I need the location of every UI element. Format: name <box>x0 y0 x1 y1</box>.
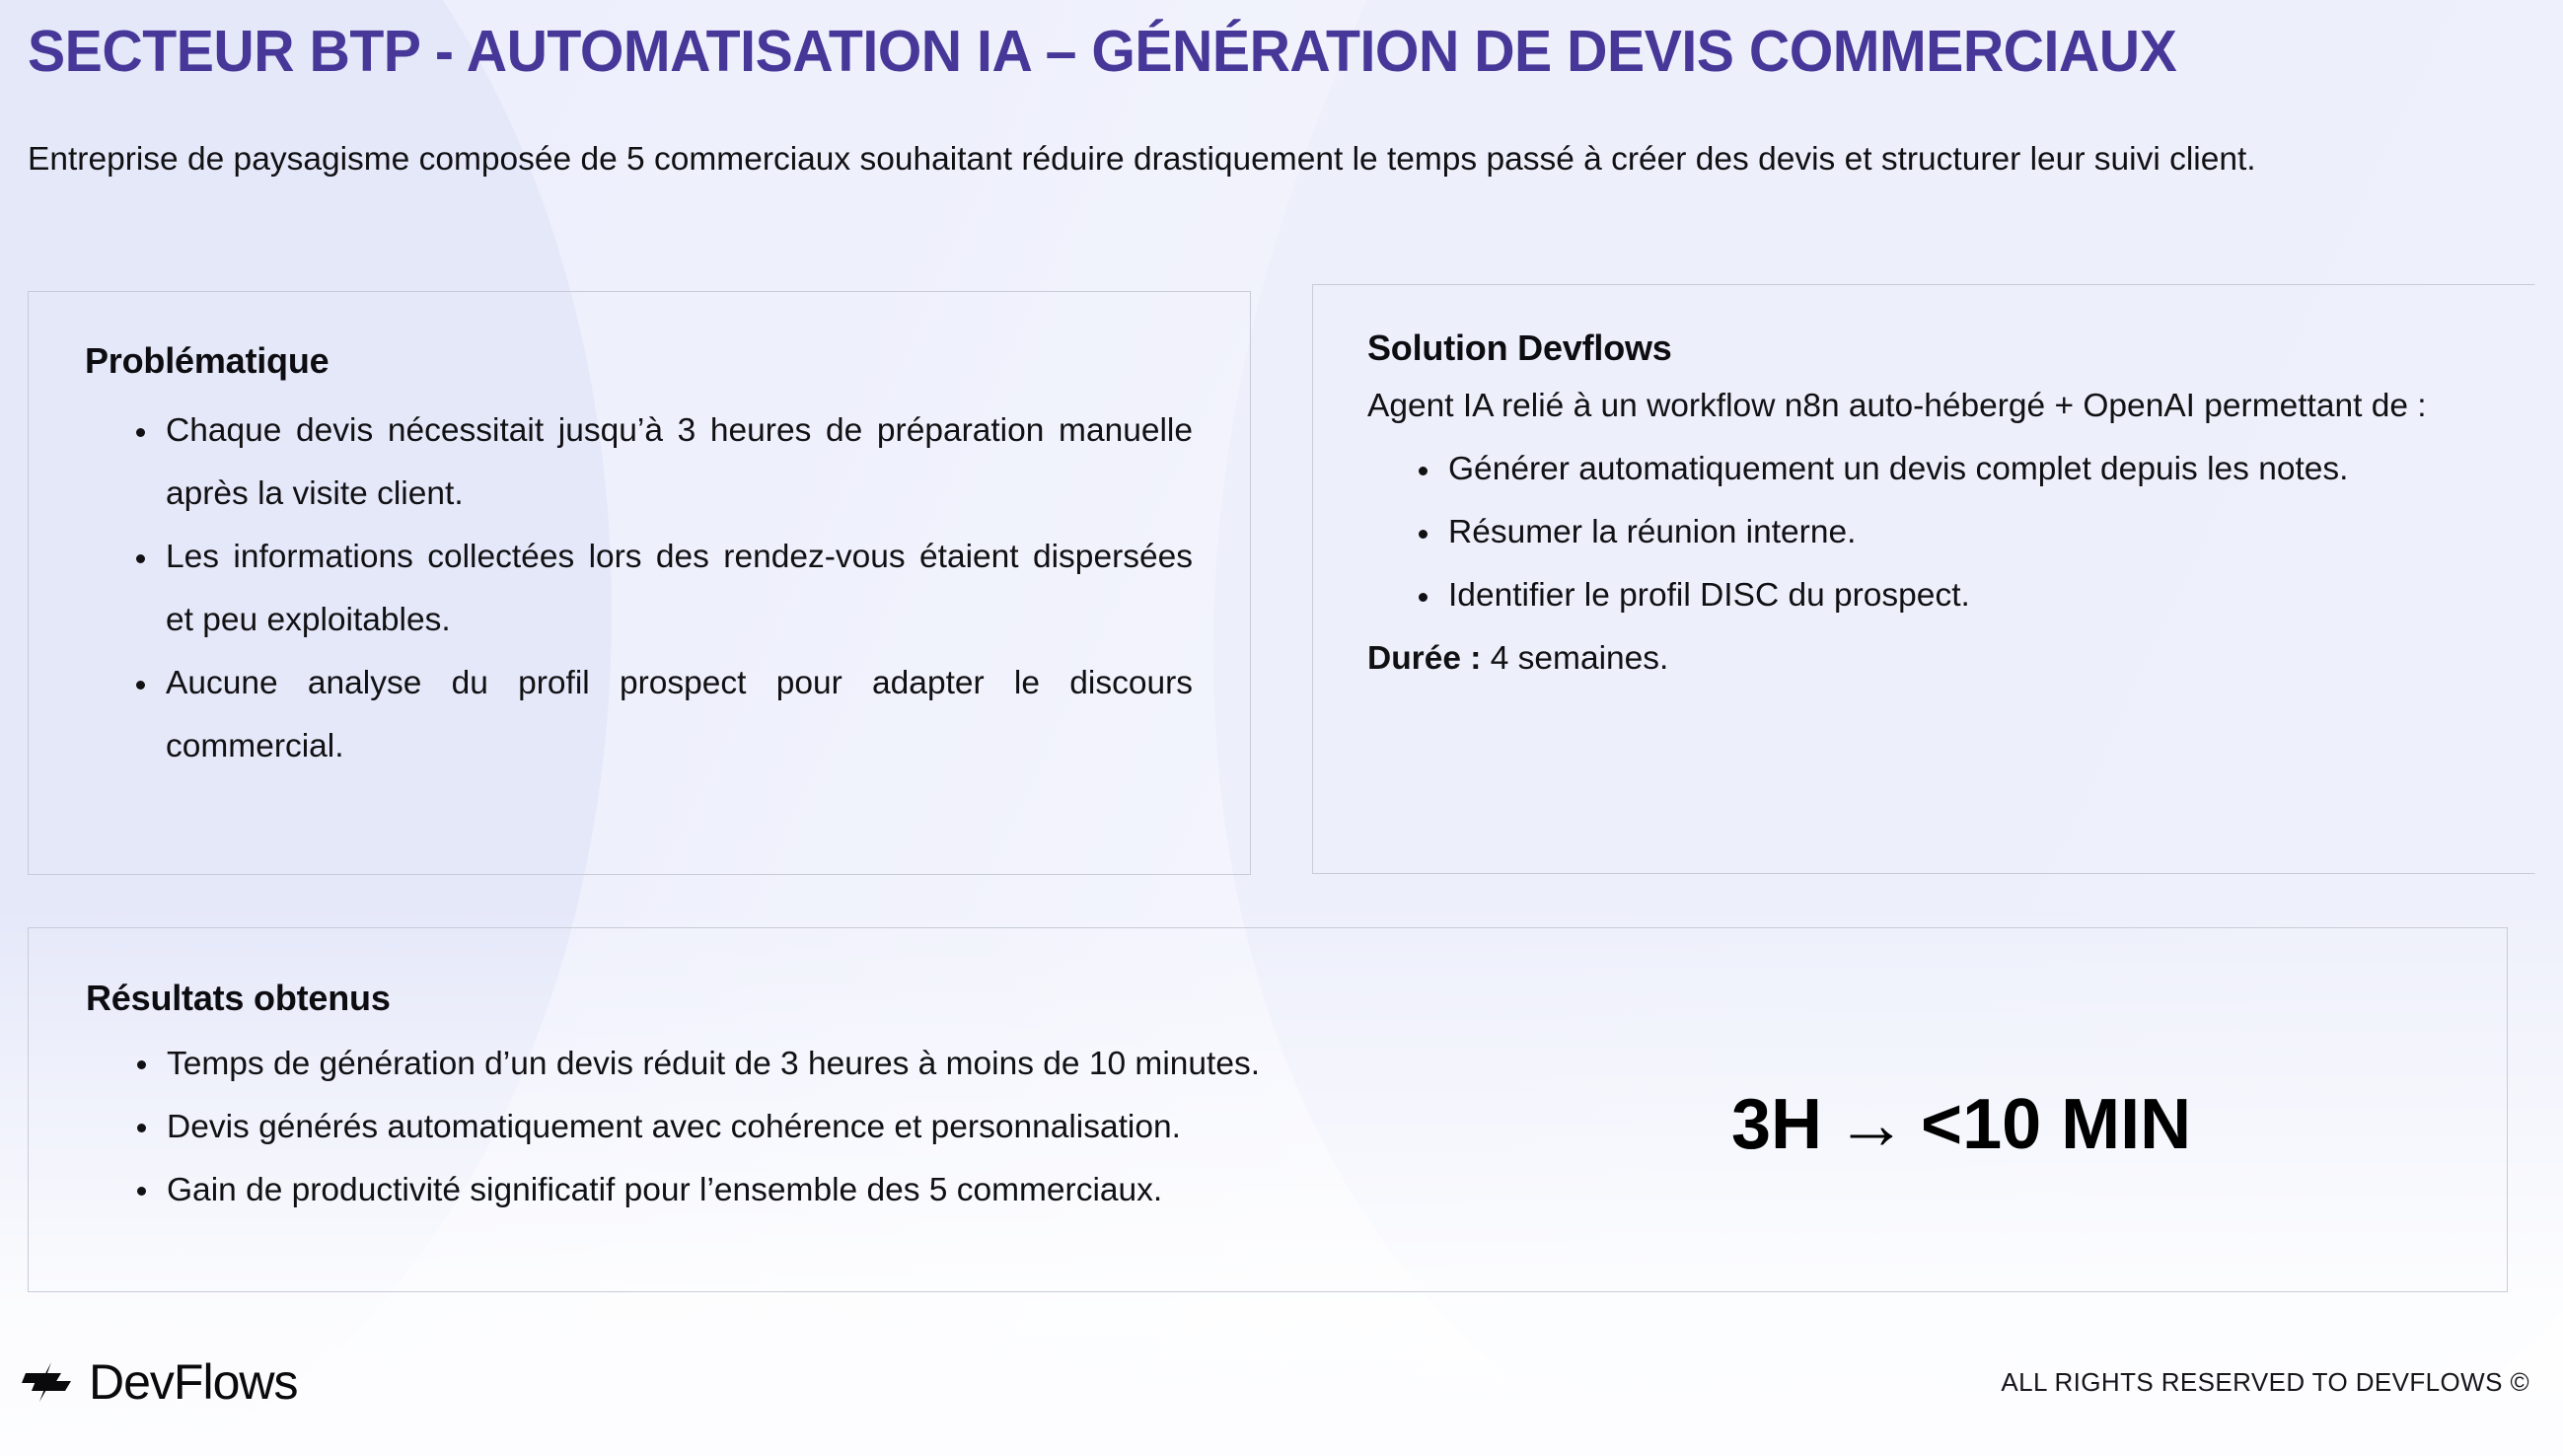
list-item: Les informations collectées lors des ren… <box>134 526 1193 652</box>
solution-card: Solution Devflows Agent IA relié à un wo… <box>1312 284 2535 874</box>
list-item: Résumer la réunion interne. <box>1417 501 2477 564</box>
solution-duration-line: Durée : 4 semaines. <box>1367 627 2477 691</box>
page-title: SECTEUR BTP - AUTOMATISATION IA – GÉNÉRA… <box>28 18 2420 85</box>
list-item: Identifier le profil DISC du prospect. <box>1417 564 2477 627</box>
intro-paragraph: Entreprise de paysagisme composée de 5 c… <box>28 133 2425 186</box>
stat-after-value: <10 MIN <box>1921 1085 2191 1164</box>
solution-duration-value: 4 semaines. <box>1491 640 1669 677</box>
solution-card-inner: Solution Devflows Agent IA relié à un wo… <box>1313 285 2534 691</box>
devflows-logo-icon <box>22 1360 75 1404</box>
list-item: Devis générés automatiquement avec cohér… <box>135 1096 1664 1159</box>
results-card-inner: Résultats obtenus Temps de génération d’… <box>29 928 2507 1222</box>
solution-lead-text: Agent IA relié à un workflow n8n auto-hé… <box>1367 375 2477 438</box>
results-bullet-list: Temps de génération d’un devis réduit de… <box>86 1033 1664 1222</box>
results-list-column: Temps de génération d’un devis réduit de… <box>86 1033 1664 1222</box>
list-item: Générer automatiquement un devis complet… <box>1417 438 2477 501</box>
status-badge: 3H→<10 MIN <box>1731 1084 2191 1165</box>
results-stat-column: 3H→<10 MIN <box>1664 1033 2507 1165</box>
slide-canvas: SECTEUR BTP - AUTOMATISATION IA – GÉNÉRA… <box>0 0 2563 1456</box>
copyright-text: ALL RIGHTS RESERVED TO DEVFLOWS © <box>2001 1367 2529 1398</box>
problem-card-inner: Problématique Chaque devis nécessitait j… <box>29 292 1250 778</box>
list-item: Temps de génération d’un devis réduit de… <box>135 1033 1664 1096</box>
results-card: Résultats obtenus Temps de génération d’… <box>28 927 2508 1292</box>
brand-logo: DevFlows <box>22 1353 297 1411</box>
problem-card: Problématique Chaque devis nécessitait j… <box>28 291 1251 875</box>
results-row: Temps de génération d’un devis réduit de… <box>86 1033 2507 1222</box>
problem-bullet-list: Chaque devis nécessitait jusqu’à 3 heure… <box>85 400 1193 778</box>
results-card-heading: Résultats obtenus <box>86 978 2507 1019</box>
list-item: Chaque devis nécessitait jusqu’à 3 heure… <box>134 400 1193 526</box>
solution-card-heading: Solution Devflows <box>1367 328 2477 369</box>
solution-duration-label: Durée : <box>1367 640 1481 677</box>
list-item: Aucune analyse du profil prospect pour a… <box>134 652 1193 778</box>
list-item: Gain de productivité significatif pour l… <box>135 1159 1664 1222</box>
solution-bullet-list: Générer automatiquement un devis complet… <box>1367 438 2477 627</box>
arrow-right-icon: → <box>1822 1085 1921 1164</box>
footer-inner: DevFlows ALL RIGHTS RESERVED TO DEVFLOWS… <box>22 1353 2529 1411</box>
problem-card-heading: Problématique <box>85 340 1193 382</box>
brand-logo-text: DevFlows <box>89 1353 297 1411</box>
slide-footer: DevFlows ALL RIGHTS RESERVED TO DEVFLOWS… <box>0 1290 2563 1456</box>
stat-before-value: 3H <box>1731 1085 1822 1164</box>
